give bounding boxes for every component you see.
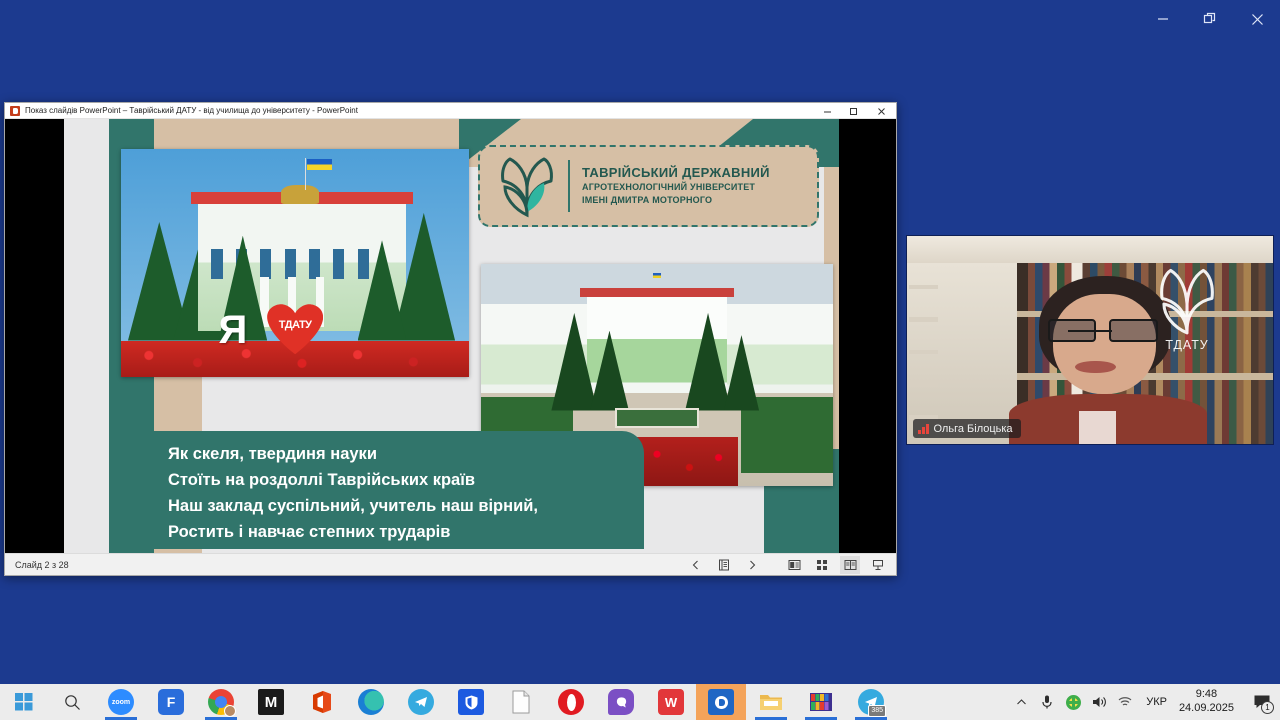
system-tray: УКР 9:48 24.09.2025 1	[1008, 684, 1280, 720]
zoom-meeting-window: Показ слайдів PowerPoint – Таврійський Д…	[0, 0, 1280, 684]
taskbar-app-telegram[interactable]	[396, 684, 446, 720]
powerpoint-status-bar: Слайд 2 з 28	[5, 553, 896, 575]
taskbar-app-winrar[interactable]	[796, 684, 846, 720]
search-button[interactable]	[48, 684, 96, 720]
powerpoint-maximize-button[interactable]	[840, 103, 866, 119]
normal-view-button[interactable]	[784, 556, 804, 574]
library-shelf	[909, 350, 938, 355]
taskbar-app-powerpoint[interactable]	[696, 684, 746, 720]
poem-line: Наш заклад суспільний, учитель наш вірни…	[168, 493, 630, 519]
clock[interactable]: 9:48 24.09.2025	[1175, 684, 1244, 720]
participant-collar	[1079, 411, 1116, 444]
powerpoint-close-button[interactable]	[868, 103, 894, 119]
slide-sorter-button[interactable]	[812, 556, 832, 574]
zoom-titlebar	[0, 0, 1280, 38]
notification-center-button[interactable]: 1	[1244, 684, 1280, 720]
chevron-up-icon[interactable]	[1008, 684, 1034, 720]
participant-video-tile[interactable]: ТДАТУ Ольга Білоцька	[906, 235, 1274, 445]
powerpoint-window: Показ слайдів PowerPoint – Таврійський Д…	[4, 102, 897, 576]
taskbar-app-zoom[interactable]: zoom	[96, 684, 146, 720]
photo-roof	[580, 288, 735, 297]
viber-icon	[608, 689, 634, 715]
search-icon	[64, 694, 81, 711]
slide-poem-panel: Як скеля, твердиня науки Стоїть на роздо…	[154, 431, 644, 549]
photo-window	[211, 249, 222, 279]
taskbar-app-telegram-2[interactable]: 385	[846, 684, 896, 720]
office-icon	[310, 690, 332, 714]
slide-canvas[interactable]: Я ТДАТУ	[64, 119, 839, 553]
taskbar-app-viber[interactable]	[596, 684, 646, 720]
zoom-restore-button[interactable]	[1187, 0, 1233, 38]
powerpoint-view-controls	[686, 554, 888, 576]
slide-photo-main-building: Я ТДАТУ	[121, 149, 469, 377]
ukraine-flag-icon	[307, 159, 331, 169]
photo-window	[309, 249, 320, 279]
powerpoint-icon	[10, 106, 20, 116]
telegram-icon: 385	[858, 689, 884, 715]
windows-taskbar: zoom F M	[0, 684, 1280, 720]
taskbar-app-wps[interactable]: W	[646, 684, 696, 720]
photo-fountain	[615, 408, 699, 428]
library-shelf	[909, 285, 938, 290]
library-shelf	[909, 382, 938, 387]
wps-icon: W	[658, 689, 684, 715]
tdatu-watermark-icon: ТДАТУ	[1139, 258, 1235, 354]
zoom-close-button[interactable]	[1234, 0, 1280, 38]
taskbar-app-foxit[interactable]: F	[146, 684, 196, 720]
photo-window	[333, 249, 344, 279]
start-button[interactable]	[0, 684, 48, 720]
glasses-bridge	[1068, 330, 1112, 332]
opera-icon	[558, 689, 584, 715]
notes-button[interactable]	[714, 556, 734, 574]
foxit-icon: F	[158, 689, 184, 715]
powerpoint-icon	[708, 689, 734, 715]
edge-icon	[358, 689, 384, 715]
logo-divider	[568, 160, 570, 212]
audio-level-icon	[918, 423, 929, 434]
document-icon	[511, 690, 531, 714]
ukraine-flag-icon	[653, 273, 661, 278]
telegram-unread-badge: 385	[868, 705, 886, 717]
zoom-minimize-button[interactable]	[1140, 0, 1186, 38]
participant-name-badge: Ольга Білоцька	[913, 419, 1021, 438]
logo-line-3: ІМЕНІ ДМИТРА МОТОРНОГО	[582, 194, 770, 207]
photo-heart-label: ТДАТУ	[267, 304, 323, 354]
m-app-icon: M	[258, 689, 284, 715]
taskbar-app-explorer[interactable]	[746, 684, 796, 720]
speaker-icon[interactable]	[1086, 684, 1112, 720]
slideshow-button[interactable]	[868, 556, 888, 574]
poem-line: Як скеля, твердиня науки	[168, 441, 630, 467]
library-shelf	[909, 317, 938, 322]
avatar	[224, 705, 236, 717]
powerpoint-titlebar[interactable]: Показ слайдів PowerPoint – Таврійський Д…	[5, 103, 896, 119]
next-slide-button[interactable]	[742, 556, 762, 574]
logo-text-block: ТАВРІЙСЬКИЙ ДЕРЖАВНИЙ АГРОТЕХНОЛОГІЧНИЙ …	[582, 165, 770, 207]
participant-name: Ольга Білоцька	[934, 423, 1013, 435]
logo-line-2: АГРОТЕХНОЛОГІЧНИЙ УНІВЕРСИТЕТ	[582, 181, 770, 194]
powerpoint-title: Показ слайдів PowerPoint – Таврійський Д…	[25, 106, 358, 115]
poem-line: Ростить і навчає степних трударів	[168, 519, 630, 545]
telegram-icon	[408, 689, 434, 715]
svg-text:ТДАТУ: ТДАТУ	[1165, 338, 1208, 352]
tulip-leaf-logo-icon	[494, 153, 560, 219]
winrar-icon	[809, 691, 833, 713]
language-indicator[interactable]: УКР	[1138, 684, 1175, 720]
clock-date: 24.09.2025	[1179, 702, 1234, 716]
taskbar-app-document[interactable]	[496, 684, 546, 720]
photo-sign-ya: Я	[218, 310, 247, 350]
windows-logo-icon	[15, 693, 33, 711]
photo-crest	[281, 185, 319, 203]
participant-mouth	[1075, 361, 1115, 373]
photo-heart-sign: ТДАТУ	[267, 304, 323, 354]
powerpoint-minimize-button[interactable]	[814, 103, 840, 119]
slide-logo-plaque: ТАВРІЙСЬКИЙ ДЕРЖАВНИЙ АГРОТЕХНОЛОГІЧНИЙ …	[478, 145, 819, 227]
antivirus-icon[interactable]	[1060, 684, 1086, 720]
folder-icon	[759, 692, 783, 712]
microphone-icon[interactable]	[1034, 684, 1060, 720]
slide-counter: Слайд 2 з 28	[15, 560, 69, 570]
library-aisle	[907, 263, 1017, 444]
taskbar-app-chrome[interactable]	[196, 684, 246, 720]
bitwarden-shield-icon	[458, 689, 484, 715]
notification-badge: 1	[1261, 701, 1274, 714]
previous-slide-button[interactable]	[686, 556, 706, 574]
taskbar-app-m[interactable]: M	[246, 684, 296, 720]
taskbar-app-edge[interactable]	[346, 684, 396, 720]
logo-line-1: ТАВРІЙСЬКИЙ ДЕРЖАВНИЙ	[582, 165, 770, 181]
chrome-icon	[208, 689, 234, 715]
photo-window	[285, 249, 296, 279]
powerpoint-slide-stage[interactable]: Я ТДАТУ	[5, 119, 896, 553]
photo-window	[260, 249, 271, 279]
reading-view-button[interactable]	[840, 556, 860, 574]
zoom-icon: zoom	[108, 689, 134, 715]
photo-window	[358, 249, 369, 279]
taskbar-app-opera[interactable]	[546, 684, 596, 720]
taskbar-app-bitwarden[interactable]	[446, 684, 496, 720]
poem-line: Стоїть на роздоллі Таврійських країв	[168, 467, 630, 493]
wifi-icon[interactable]	[1112, 684, 1138, 720]
taskbar-app-office[interactable]	[296, 684, 346, 720]
clock-time: 9:48	[1196, 688, 1217, 702]
